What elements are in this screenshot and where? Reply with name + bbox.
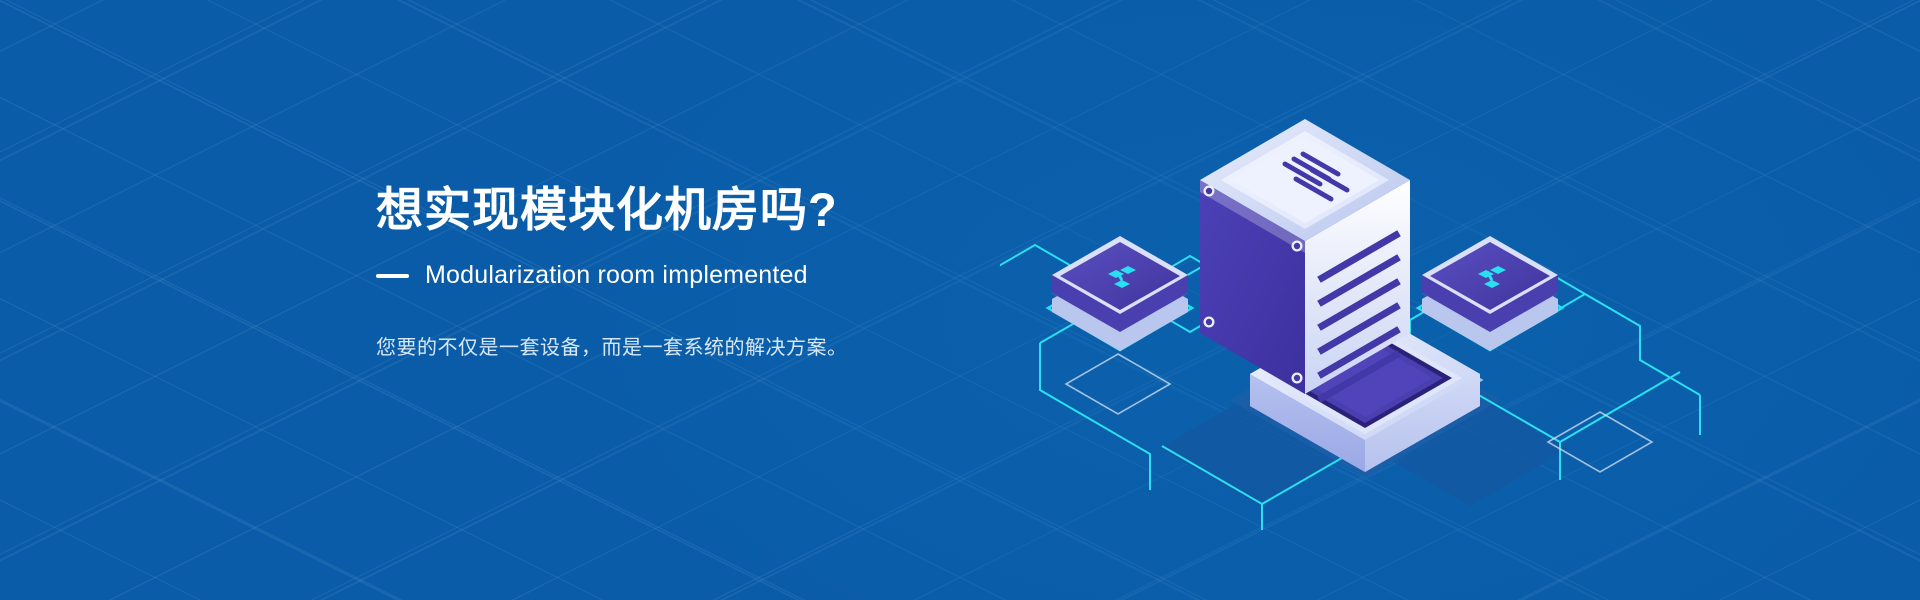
right-processor-chip (1418, 236, 1562, 351)
isometric-server-rack-illustration (1000, 60, 1720, 540)
hero-description: 您要的不仅是一套设备，而是一套系统的解决方案。 (376, 331, 1096, 360)
accent-dash-icon (376, 274, 409, 278)
hero-banner: 想实现模块化机房吗? Modularization room implement… (0, 0, 1920, 600)
hero-copy-block: 想实现模块化机房吗? Modularization room implement… (376, 182, 1096, 360)
subtitle-row: Modularization room implemented (376, 261, 1096, 290)
subtitle-english: Modularization room implemented (425, 261, 808, 290)
page-title: 想实现模块化机房吗? (376, 182, 1096, 237)
